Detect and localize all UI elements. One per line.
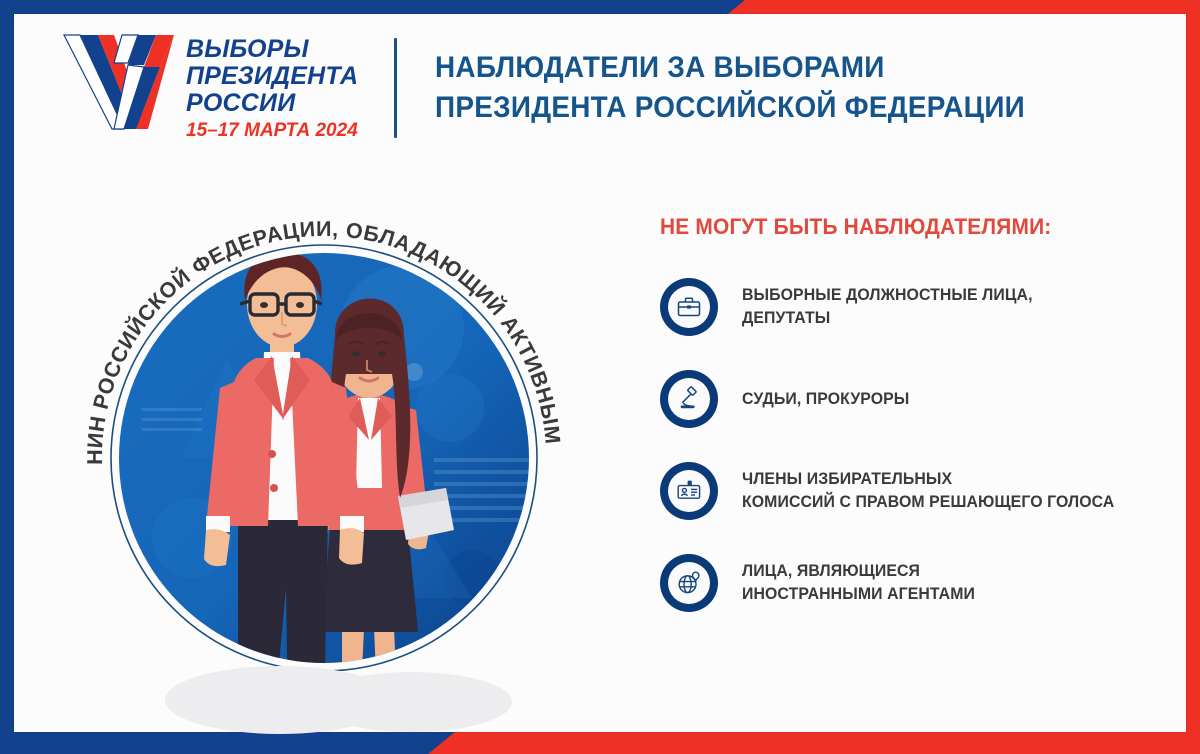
- elections-logo: ВЫБОРЫ ПРЕЗИДЕНТА РОССИИ 15–17 МАРТА 202…: [60, 23, 378, 153]
- logo-wordmark: ВЫБОРЫ ПРЕЗИДЕНТА РОССИИ 15–17 МАРТА 202…: [186, 37, 358, 140]
- list-item-label: ЧЛЕНЫ ИЗБИРАТЕЛЬНЫХ КОМИССИЙ С ПРАВОМ РЕ…: [742, 468, 1114, 514]
- globe-icon: [660, 554, 718, 612]
- poster-header: ВЫБОРЫ ПРЕЗИДЕНТА РОССИИ 15–17 МАРТА 202…: [14, 14, 1186, 162]
- list-item: ВЫБОРНЫЕ ДОЛЖНОСТНЫЕ ЛИЦА, ДЕПУТАТЫ: [660, 278, 1160, 336]
- list-item: ЧЛЕНЫ ИЗБИРАТЕЛЬНЫХ КОМИССИЙ С ПРАВОМ РЕ…: [660, 462, 1160, 520]
- restrictions-heading: НЕ МОГУТ БЫТЬ НАБЛЮДАТЕЛЯМИ:: [660, 214, 1135, 240]
- logo-line-3: РОССИИ: [186, 91, 358, 116]
- logo-line-1: ВЫБОРЫ: [186, 37, 358, 62]
- briefcase-icon: [660, 278, 718, 336]
- list-item: ЛИЦА, ЯВЛЯЮЩИЕСЯ ИНОСТРАННЫМИ АГЕНТАМИ: [660, 554, 1160, 612]
- page-title-line-1: НАБЛЮДАТЕЛИ ЗА ВЫБОРАМИ: [435, 48, 1025, 88]
- list-item-label: ЛИЦА, ЯВЛЯЮЩИЕСЯ ИНОСТРАННЫМИ АГЕНТАМИ: [742, 560, 975, 606]
- page-title-line-2: ПРЕЗИДЕНТА РОССИЙСКОЙ ФЕДЕРАЦИИ: [435, 88, 1025, 128]
- header-divider: [394, 38, 397, 138]
- figure-ground-shadow: [150, 650, 550, 740]
- list-item-label: ВЫБОРНЫЕ ДОЛЖНОСТНЫЕ ЛИЦА, ДЕПУТАТЫ: [742, 284, 1033, 330]
- list-item-label: СУДЬИ, ПРОКУРОРЫ: [742, 388, 909, 411]
- logo-line-2: ПРЕЗИДЕНТА: [186, 64, 358, 89]
- v-flag-icon: [60, 33, 180, 137]
- logo-date: 15–17 МАРТА 2024: [186, 121, 358, 140]
- list-item: СУДЬИ, ПРОКУРОРЫ: [660, 370, 1160, 428]
- observer-badge: НАБЛЮДАТЕЛЬ – ГРАЖДАНИН РОССИЙСКОЙ ФЕДЕР…: [42, 158, 602, 718]
- restrictions-panel: НЕ МОГУТ БЫТЬ НАБЛЮДАТЕЛЯМИ: ВЫБОРНЫЕ ДО…: [660, 214, 1160, 646]
- poster-root: ВЫБОРЫ ПРЕЗИДЕНТА РОССИИ 15–17 МАРТА 202…: [0, 0, 1200, 754]
- page-title: НАБЛЮДАТЕЛИ ЗА ВЫБОРАМИ ПРЕЗИДЕНТА РОССИ…: [435, 48, 1025, 127]
- gavel-icon: [660, 370, 718, 428]
- id-card-icon: [660, 462, 718, 520]
